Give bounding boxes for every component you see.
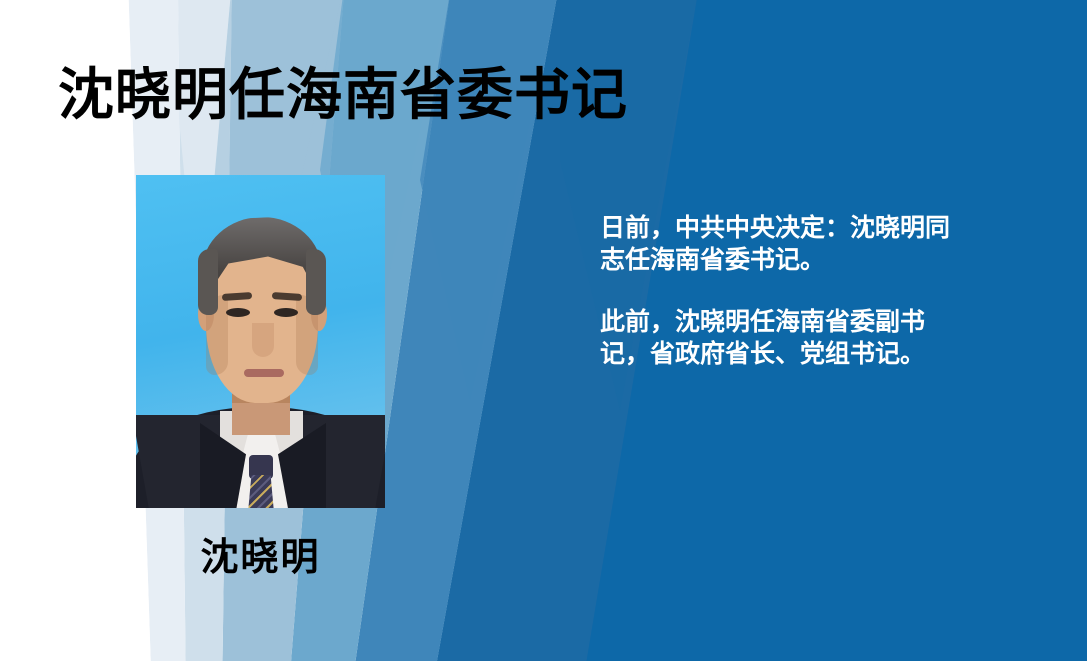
body-paragraph-2: 此前，沈晓明任海南省委副书记，省政府省长、党组书记。: [600, 306, 970, 370]
page-title: 沈晓明任海南省委书记: [58, 64, 628, 128]
photo-caption: 沈晓明: [136, 526, 385, 581]
body-text-block: 日前，中共中央决定：沈晓明同志任海南省委书记。 此前，沈晓明任海南省委副书记，省…: [600, 212, 970, 370]
photo-mouth: [244, 369, 284, 377]
photo-hair-side-left: [198, 249, 218, 315]
slide-canvas: 沈晓明任海南省委书记 沈晓明 日前，中共中央决定：沈晓明同志任海南省委书记。 此…: [0, 0, 1087, 661]
body-paragraph-1: 日前，中共中央决定：沈晓明同志任海南省委书记。: [600, 212, 970, 276]
portrait-photo: [136, 175, 385, 508]
photo-eye-left: [226, 308, 250, 317]
photo-eye-right: [274, 308, 298, 317]
band-four-chevron: [420, 0, 560, 400]
photo-nose: [252, 323, 274, 357]
photo-hair-side-right: [306, 249, 326, 315]
